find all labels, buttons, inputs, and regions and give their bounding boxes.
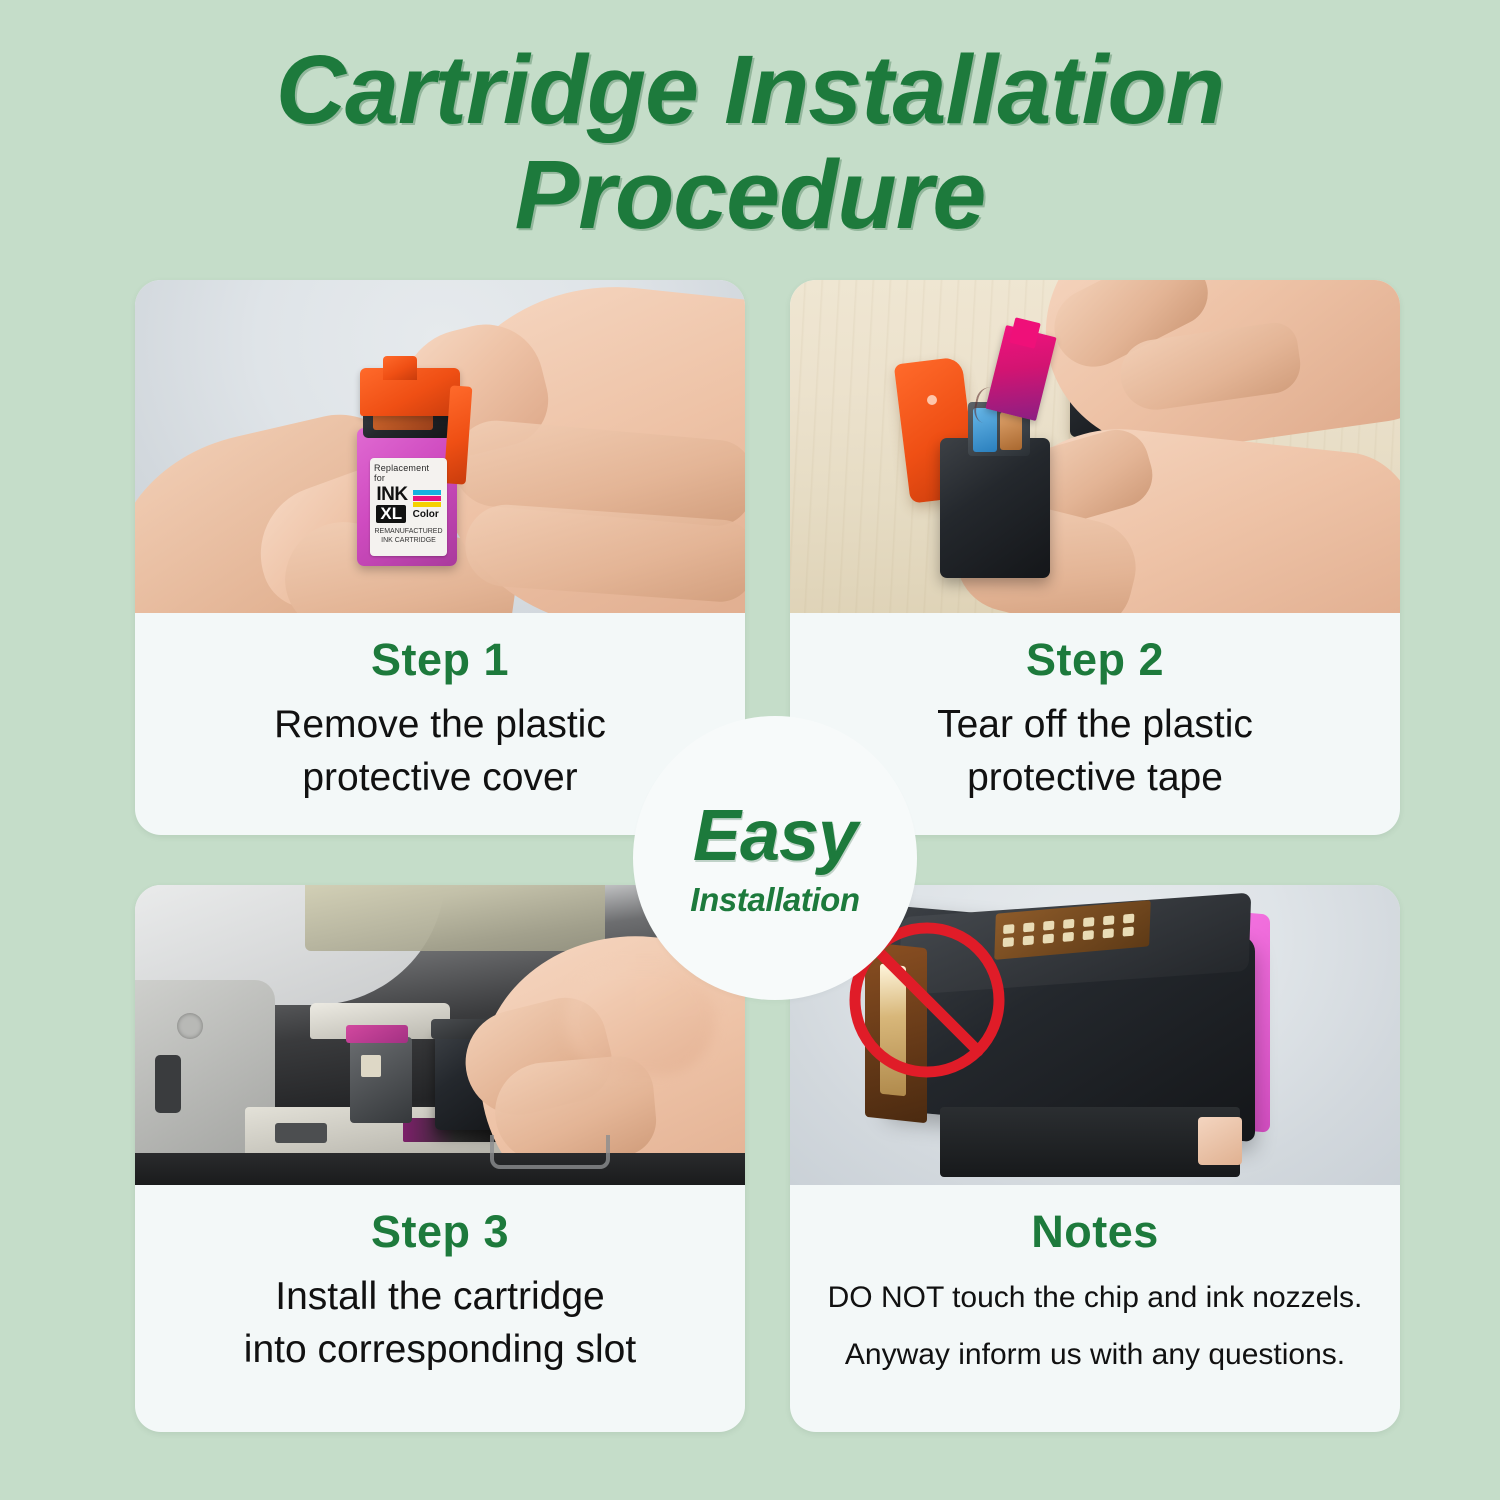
printer-handle <box>490 1135 610 1169</box>
notes-caption: Notes DO NOT touch the chip and ink nozz… <box>790 1185 1400 1432</box>
protective-clip-tab <box>383 356 417 380</box>
cartridge-held <box>940 438 1050 578</box>
step-2-title: Step 2 <box>1026 635 1164 685</box>
installed-cartridge-magenta-top <box>346 1025 408 1043</box>
label-middle-row: INK XL Color <box>376 486 440 524</box>
step-1-description: Remove the plastic protective cover <box>274 699 606 804</box>
step-card-2: Step 2 Tear off the plastic protective t… <box>790 280 1400 835</box>
badge-sub-text: Installation <box>690 883 859 916</box>
cartridge-label: Replacement for INK XL Color <box>370 458 447 556</box>
step-3-photo <box>135 885 745 1185</box>
clip-hole <box>927 395 937 405</box>
label-color-word: Color <box>413 509 441 520</box>
notes-description: DO NOT touch the chip and ink nozzels. A… <box>828 1269 1363 1383</box>
step-3-title: Step 3 <box>371 1207 509 1257</box>
printer-left-dial <box>177 1013 203 1039</box>
easy-installation-badge: Easy Installation <box>640 723 910 993</box>
step-3-caption: Step 3 Install the cartridge into corres… <box>135 1185 745 1432</box>
label-top-text: Replacement for <box>374 463 443 483</box>
badge-main-text: Easy <box>693 800 857 872</box>
page-title: Cartridge Installation Procedure <box>0 38 1500 248</box>
label-brand: INK <box>376 486 407 504</box>
installed-cartridge <box>350 1037 412 1123</box>
notes-title: Notes <box>1031 1207 1159 1257</box>
step-card-1: Replacement for INK XL Color <box>135 280 745 835</box>
label-bottom-text: REMANUFACTURED INK CARTRIDGE <box>374 528 442 546</box>
printer-front-bar <box>135 1153 745 1185</box>
notes-card: Notes DO NOT touch the chip and ink nozz… <box>790 885 1400 1432</box>
step-1-title: Step 1 <box>371 635 509 685</box>
label-size: XL <box>376 505 406 523</box>
step-2-photo <box>790 280 1400 613</box>
knuckle-highlight <box>565 965 715 1075</box>
cartridge-lower-block <box>940 1107 1240 1177</box>
page-title-line-1: Cartridge Installation <box>0 38 1500 143</box>
step-2-description: Tear off the plastic protective tape <box>937 699 1253 804</box>
step-1-photo: Replacement for INK XL Color <box>135 280 745 613</box>
printer-inner-panel <box>305 885 605 951</box>
step-3-description: Install the cartridge into corresponding… <box>244 1271 636 1376</box>
cartridge-foot <box>1198 1117 1242 1165</box>
page-title-line-2: Procedure <box>0 143 1500 248</box>
printer-left-slot <box>155 1055 181 1113</box>
carriage-slot-left <box>275 1123 327 1143</box>
installed-cartridge-label <box>361 1055 381 1077</box>
cartridge-nozzle-copper <box>1000 412 1022 450</box>
step-card-3: Step 3 Install the cartridge into corres… <box>135 885 745 1432</box>
label-color-stripes <box>413 490 441 507</box>
